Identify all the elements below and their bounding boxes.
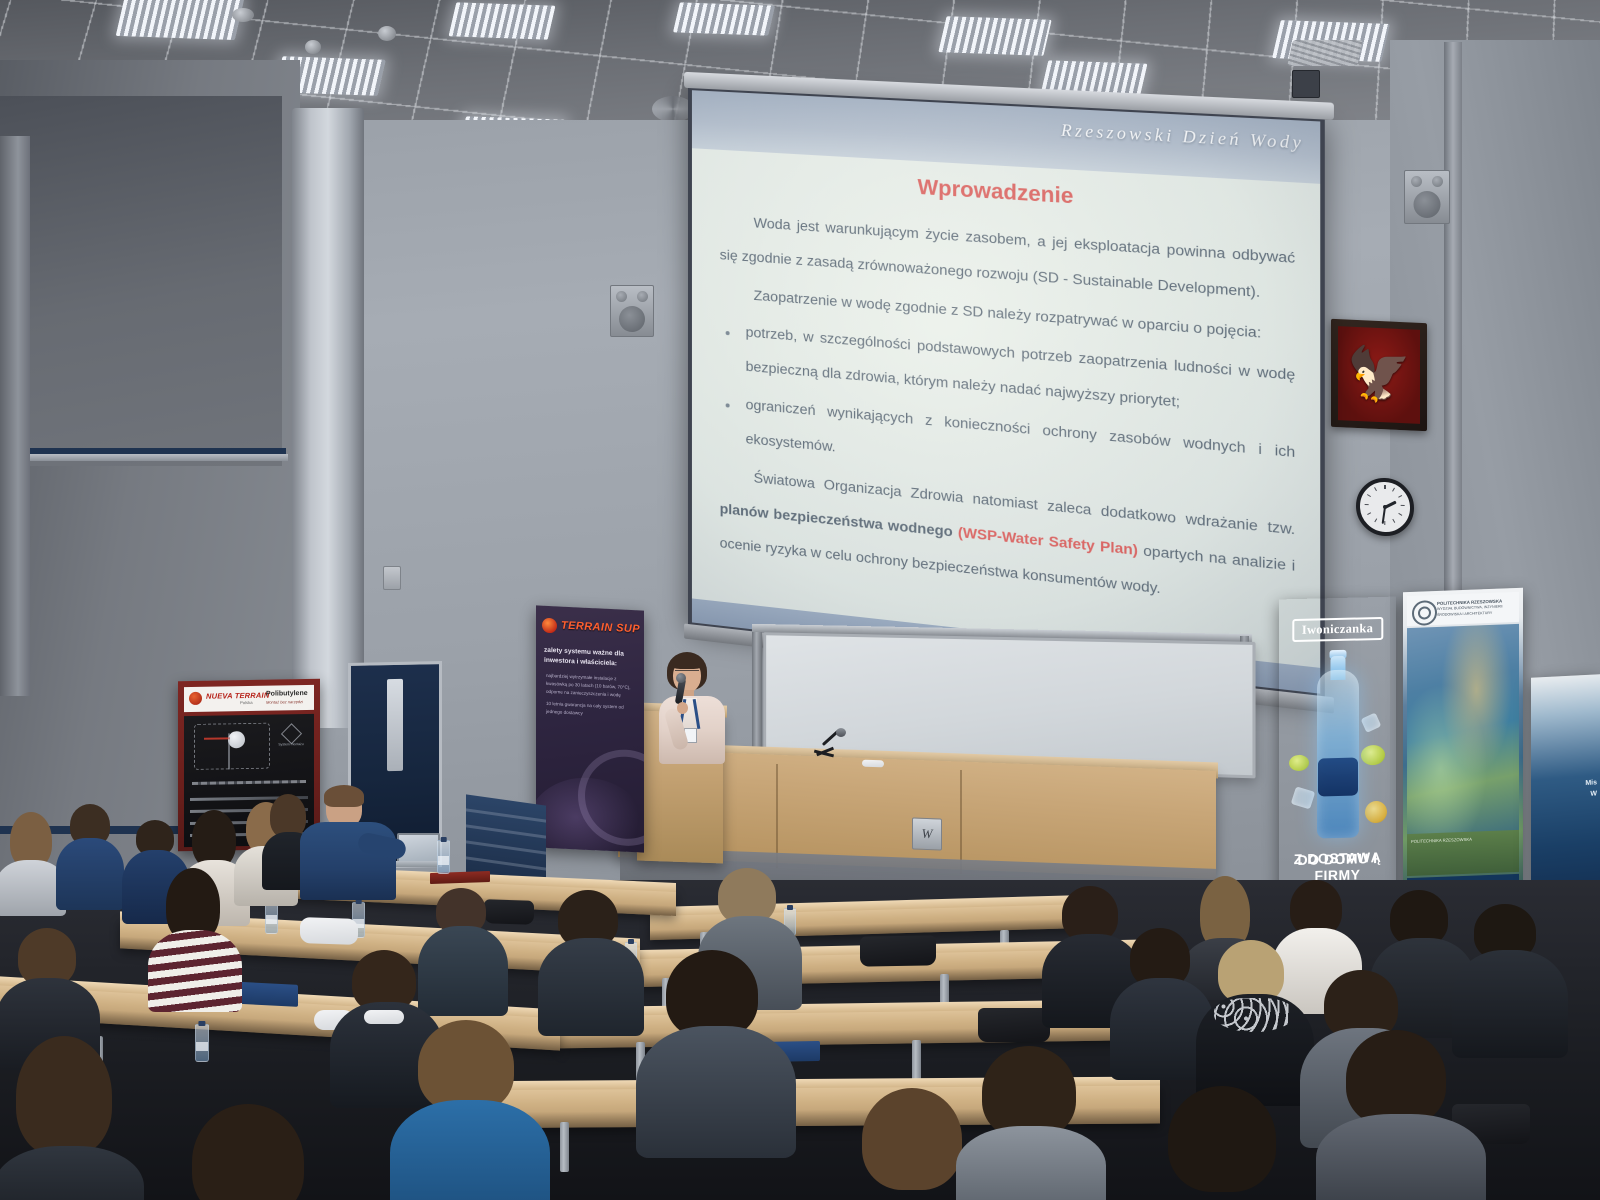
university-photo-collage xyxy=(1407,624,1519,858)
person-hair xyxy=(982,1046,1076,1138)
white-jacket-on-bench xyxy=(300,917,358,945)
handbag xyxy=(978,1008,1050,1042)
desk-nameplate: W xyxy=(912,817,942,850)
left-wall-upper-panel xyxy=(0,96,282,466)
university-logo-icon xyxy=(1412,600,1437,626)
wall-corner-post xyxy=(1444,42,1462,602)
presentation-slide: Rzeszowski Dzień Wody Wprowadzenie Woda … xyxy=(692,90,1320,693)
iwoniczanka-logo: Iwoniczanka xyxy=(1292,617,1383,642)
polish-eagle-emblem: 🦅 xyxy=(1331,319,1427,431)
university-address-text: POLITECHNIKA RZESZOWSKA xyxy=(1411,836,1472,845)
cabinet-product-sub: Montaż bez narzędzi xyxy=(266,699,303,705)
lecture-hall-photo: 🦅 Rzeszowski Dzień Wody Wprowadzenie Wod… xyxy=(0,0,1600,1200)
edge-banner-line1: Mis xyxy=(1585,778,1597,789)
presenter xyxy=(655,652,731,764)
microphone-capsule xyxy=(676,673,686,683)
speaker-woofer xyxy=(1414,191,1441,218)
audience-member xyxy=(960,1046,1100,1200)
wall-speaker-right xyxy=(1404,170,1450,224)
speaker-tweeter xyxy=(1411,176,1422,187)
audience-member xyxy=(1320,1030,1480,1200)
desk-panel-seam xyxy=(960,770,962,874)
desk-microphone xyxy=(812,728,852,768)
ceiling-speaker-recessed xyxy=(232,8,254,22)
clock-minute-hand xyxy=(1382,507,1386,524)
university-unit-line: WYDZIAŁ BUDOWNICTWA, INŻYNIERII ŚRODOWIS… xyxy=(1437,604,1516,619)
ice-cube-decoration xyxy=(1291,786,1316,809)
audience-member xyxy=(640,950,790,1150)
cabinet-header-panel: NUEVA TERRAIN Polska Polibutylene Montaż… xyxy=(184,685,314,712)
water-bottle xyxy=(195,1024,209,1062)
audience-member xyxy=(176,1104,326,1200)
terrain-bullet-list: najbardziej wytrzymałe instalacje z kwas… xyxy=(546,672,636,721)
cabinet-brand-sub: Polska xyxy=(240,700,253,705)
person-hair xyxy=(666,950,758,1038)
bottle-cap xyxy=(198,1021,205,1026)
nueva-terrain-logo-icon xyxy=(189,692,202,705)
bottle-label xyxy=(1318,758,1358,797)
banner-university: POLITECHNIKA RZESZOWSKA WYDZIAŁ BUDOWNIC… xyxy=(1403,588,1523,923)
laptop-keyboard xyxy=(393,861,440,867)
terrain-brand-name: TERRAIN SUP xyxy=(561,620,640,636)
audience-member xyxy=(394,1020,544,1200)
cabinet-pipe-display xyxy=(192,780,306,785)
audience-member xyxy=(1196,940,1308,1100)
person-torso xyxy=(148,930,242,1012)
terrain-bullet-item: 10 letnia gwarancja na cały system od je… xyxy=(546,700,636,720)
bottle-label xyxy=(438,856,449,865)
university-green-panel: POLITECHNIKA RZESZOWSKA xyxy=(1407,830,1519,876)
wall-ledge-left xyxy=(0,454,288,461)
edge-banner-line2: W xyxy=(1585,789,1597,800)
bottle-cap xyxy=(440,837,447,842)
cabinet-product-name: Polibutylene xyxy=(266,690,308,698)
person-torso xyxy=(390,1100,550,1200)
audience-member xyxy=(1150,1086,1300,1200)
emblem-red-background: 🦅 xyxy=(1338,326,1420,424)
person-torso xyxy=(538,938,644,1036)
lemon-slice-decoration xyxy=(1361,745,1385,766)
terrain-headline: zalety systemu ważne dla inwestora i wła… xyxy=(544,646,636,670)
bench-leg xyxy=(560,1122,569,1172)
slide-body: Woda jest warunkującym życie zasobem, a … xyxy=(720,204,1296,625)
terrain-logo: TERRAIN SUP xyxy=(542,616,640,641)
lemon-slice-decoration xyxy=(1365,801,1387,824)
audience-member xyxy=(540,890,640,1030)
bottle-label xyxy=(266,915,277,924)
speaker-woofer xyxy=(619,306,645,332)
desk-item-paper xyxy=(862,760,884,768)
person-sequin-collar xyxy=(1214,998,1294,1032)
ceiling-light-fixture xyxy=(938,16,1051,56)
eagle-icon: 🦅 xyxy=(1347,348,1412,403)
ceiling-light-fixture xyxy=(673,2,775,35)
lemon-slice-decoration xyxy=(1289,755,1309,771)
ceiling-mount-bracket xyxy=(1292,70,1320,98)
clock-center-pin xyxy=(1383,505,1387,509)
wall-speaker-left xyxy=(610,285,654,337)
cabinet-schematic-line xyxy=(228,733,230,769)
door-window xyxy=(387,679,403,771)
ceiling-smoke-detector xyxy=(378,26,396,41)
audience-member xyxy=(0,1036,136,1200)
presenter-hair-front xyxy=(670,655,704,669)
person-torso xyxy=(300,822,396,900)
audience-member xyxy=(58,804,120,908)
person-hair xyxy=(192,1104,304,1200)
speaker-tweeter xyxy=(616,291,627,302)
projection-screen: Rzeszowski Dzień Wody Wprowadzenie Woda … xyxy=(688,86,1325,699)
cabinet-brand-name: NUEVA TERRAIN xyxy=(206,691,269,701)
person-hair xyxy=(324,785,364,807)
audience-member xyxy=(0,812,60,908)
banner-iwoniczanka: Iwoniczanka Z DOSTAWĄ DO DOMU I FIRMY ww… xyxy=(1279,597,1396,910)
ceiling-light-fixture xyxy=(448,2,555,39)
cabinet-valve-caption: System montażu xyxy=(278,742,304,748)
presenter-hand xyxy=(677,702,688,714)
terrain-bullet-item: najbardziej wytrzymałe instalacje z kwas… xyxy=(546,672,636,700)
bag-on-bench xyxy=(860,935,936,966)
speaker-tweeter xyxy=(637,291,648,302)
person-hair xyxy=(16,1036,112,1156)
ceiling-spotlight xyxy=(305,40,321,54)
person-torso xyxy=(1316,1114,1486,1200)
university-org-name: POLITECHNIKA RZESZOWSKA WYDZIAŁ BUDOWNIC… xyxy=(1437,597,1516,619)
speaker-tweeter xyxy=(1432,176,1443,187)
person-hair xyxy=(862,1088,962,1190)
slide-p3-bold: planów bezpieczeństwa wodnego xyxy=(720,501,958,541)
water-bottle xyxy=(437,840,450,874)
structural-column xyxy=(292,108,364,728)
slide-p3-wsp-highlight: (WSP-Water Safety Plan) xyxy=(958,524,1138,559)
person-hair xyxy=(418,1020,514,1112)
left-edge-column xyxy=(0,136,30,696)
person-hair xyxy=(1168,1086,1276,1192)
university-header: POLITECHNIKA RZESZOWSKA WYDZIAŁ BUDOWNIC… xyxy=(1407,592,1519,626)
edge-banner-text: Mis W xyxy=(1585,778,1597,800)
person-torso xyxy=(0,1146,144,1200)
microphone-head xyxy=(836,728,846,737)
person-torso xyxy=(636,1026,796,1158)
person-torso xyxy=(56,838,124,910)
bottle-label xyxy=(196,1042,208,1051)
person-hair xyxy=(1346,1030,1446,1126)
person-torso xyxy=(956,1126,1106,1200)
wall-outlet-box xyxy=(383,566,401,590)
audience-member xyxy=(150,868,236,998)
terrain-logo-mark-icon xyxy=(542,618,557,634)
banner-terrain-sup: TERRAIN SUP zalety systemu ważne dla inw… xyxy=(536,605,644,852)
water-bottle-image xyxy=(1317,669,1359,838)
audience-member xyxy=(1110,928,1210,1074)
ceiling-air-vent xyxy=(1287,40,1363,66)
ceiling-light-fixture xyxy=(116,0,245,40)
cabinet-valve-area: System montażu xyxy=(276,722,306,775)
ice-cube-decoration xyxy=(1361,712,1382,732)
technician-at-laptop xyxy=(300,788,396,898)
